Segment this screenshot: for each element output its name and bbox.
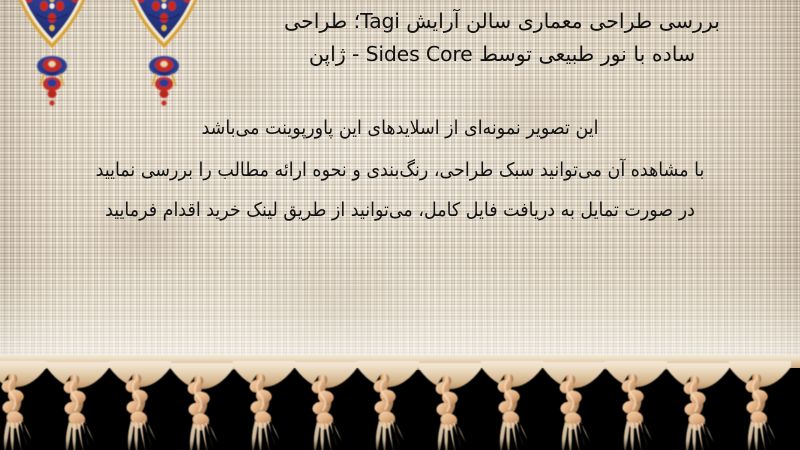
body-line-1: این تصویر نمونه‌ای از اسلایدهای این پاور… <box>32 108 768 148</box>
slide-canvas: بررسی طراحی معماری سالن آرایش Tagi؛ طراح… <box>0 0 800 450</box>
title-line-1: بررسی طراحی معماری سالن آرایش Tagi؛ طراح… <box>222 5 782 38</box>
slide-body: این تصویر نمونه‌ای از اسلایدهای این پاور… <box>0 108 800 230</box>
body-line-3: در صورت تمایل به دریافت فایل کامل، می‌تو… <box>32 190 768 230</box>
carpet-fringe <box>0 355 800 450</box>
fringe-svg <box>0 355 800 450</box>
title-line-2: ساده با نور طبیعی توسط Sides Core - ژاپن <box>222 38 782 71</box>
slide-title: بررسی طراحی معماری سالن آرایش Tagi؛ طراح… <box>222 5 782 71</box>
body-line-2: با مشاهده آن می‌توانید سبک طراحی، رنگ‌بن… <box>32 150 768 190</box>
